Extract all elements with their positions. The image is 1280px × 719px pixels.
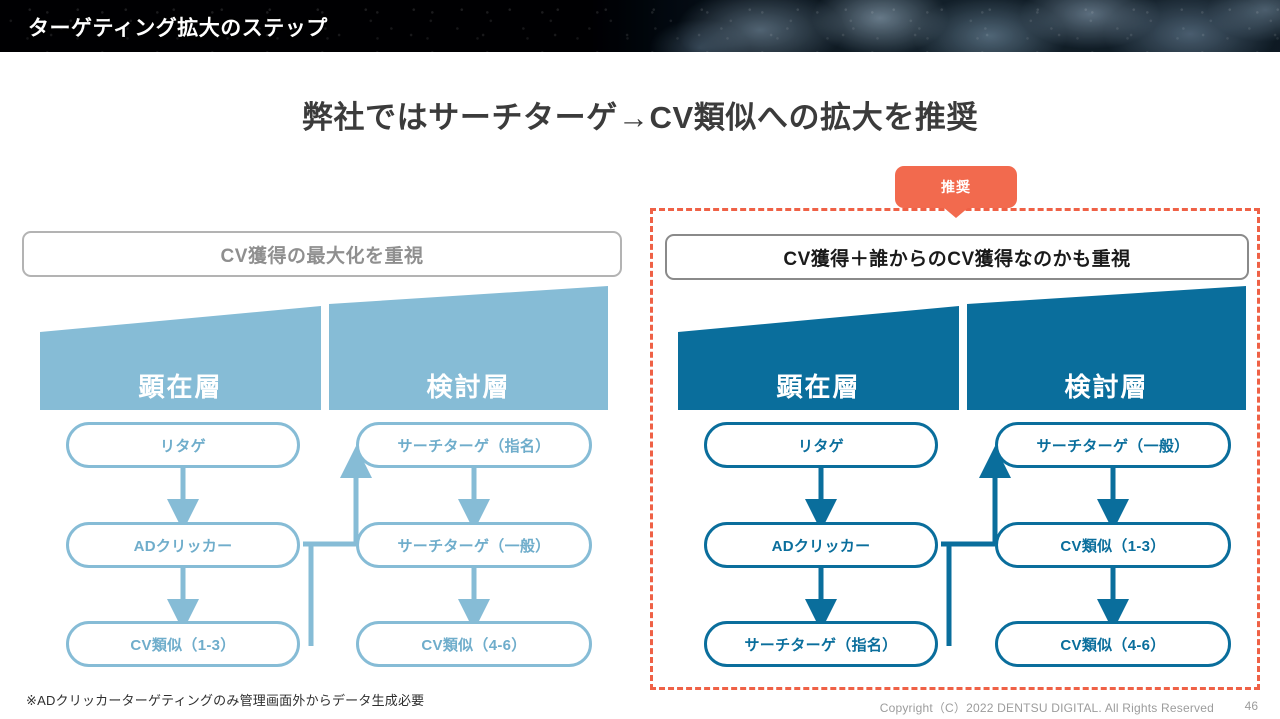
right-c2-pill-1[interactable]: サーチターゲ（一般） <box>995 422 1231 468</box>
right-c1-pill-1[interactable]: リタゲ <box>704 422 938 468</box>
right-c2-pill-1-label: サーチターゲ（一般） <box>1036 435 1189 456</box>
right-c1-pill-2[interactable]: ADクリッカー <box>704 522 938 568</box>
right-c1-pill-1-label: リタゲ <box>798 435 844 456</box>
header-title: ターゲティング拡大のステップ <box>28 12 328 42</box>
right-c1-pill-3-label: サーチターゲ（指名） <box>744 634 897 655</box>
slide-canvas: ターゲティング拡大のステップ 弊社ではサーチターゲ→CV類似への拡大を推奨 推奨… <box>0 0 1280 719</box>
footnote: ※ADクリッカーターゲティングのみ管理画面外からデータ生成必要 <box>26 690 424 709</box>
page-number: 46 <box>1245 699 1258 713</box>
recommend-badge-label: 推奨 <box>941 177 971 197</box>
right-connectors <box>0 0 1280 719</box>
right-c2-pill-3[interactable]: CV類似（4-6） <box>995 621 1231 667</box>
copyright-text: Copyright（C）2022 DENTSU DIGITAL. All Rig… <box>880 699 1214 716</box>
right-c2-pill-3-label: CV類似（4-6） <box>1060 634 1165 655</box>
right-c2-pill-2-label: CV類似（1-3） <box>1060 535 1165 556</box>
right-c2-pill-2[interactable]: CV類似（1-3） <box>995 522 1231 568</box>
recommend-badge: 推奨 <box>895 166 1017 208</box>
right-c1-pill-2-label: ADクリッカー <box>772 535 871 556</box>
right-c1-pill-3[interactable]: サーチターゲ（指名） <box>704 621 938 667</box>
